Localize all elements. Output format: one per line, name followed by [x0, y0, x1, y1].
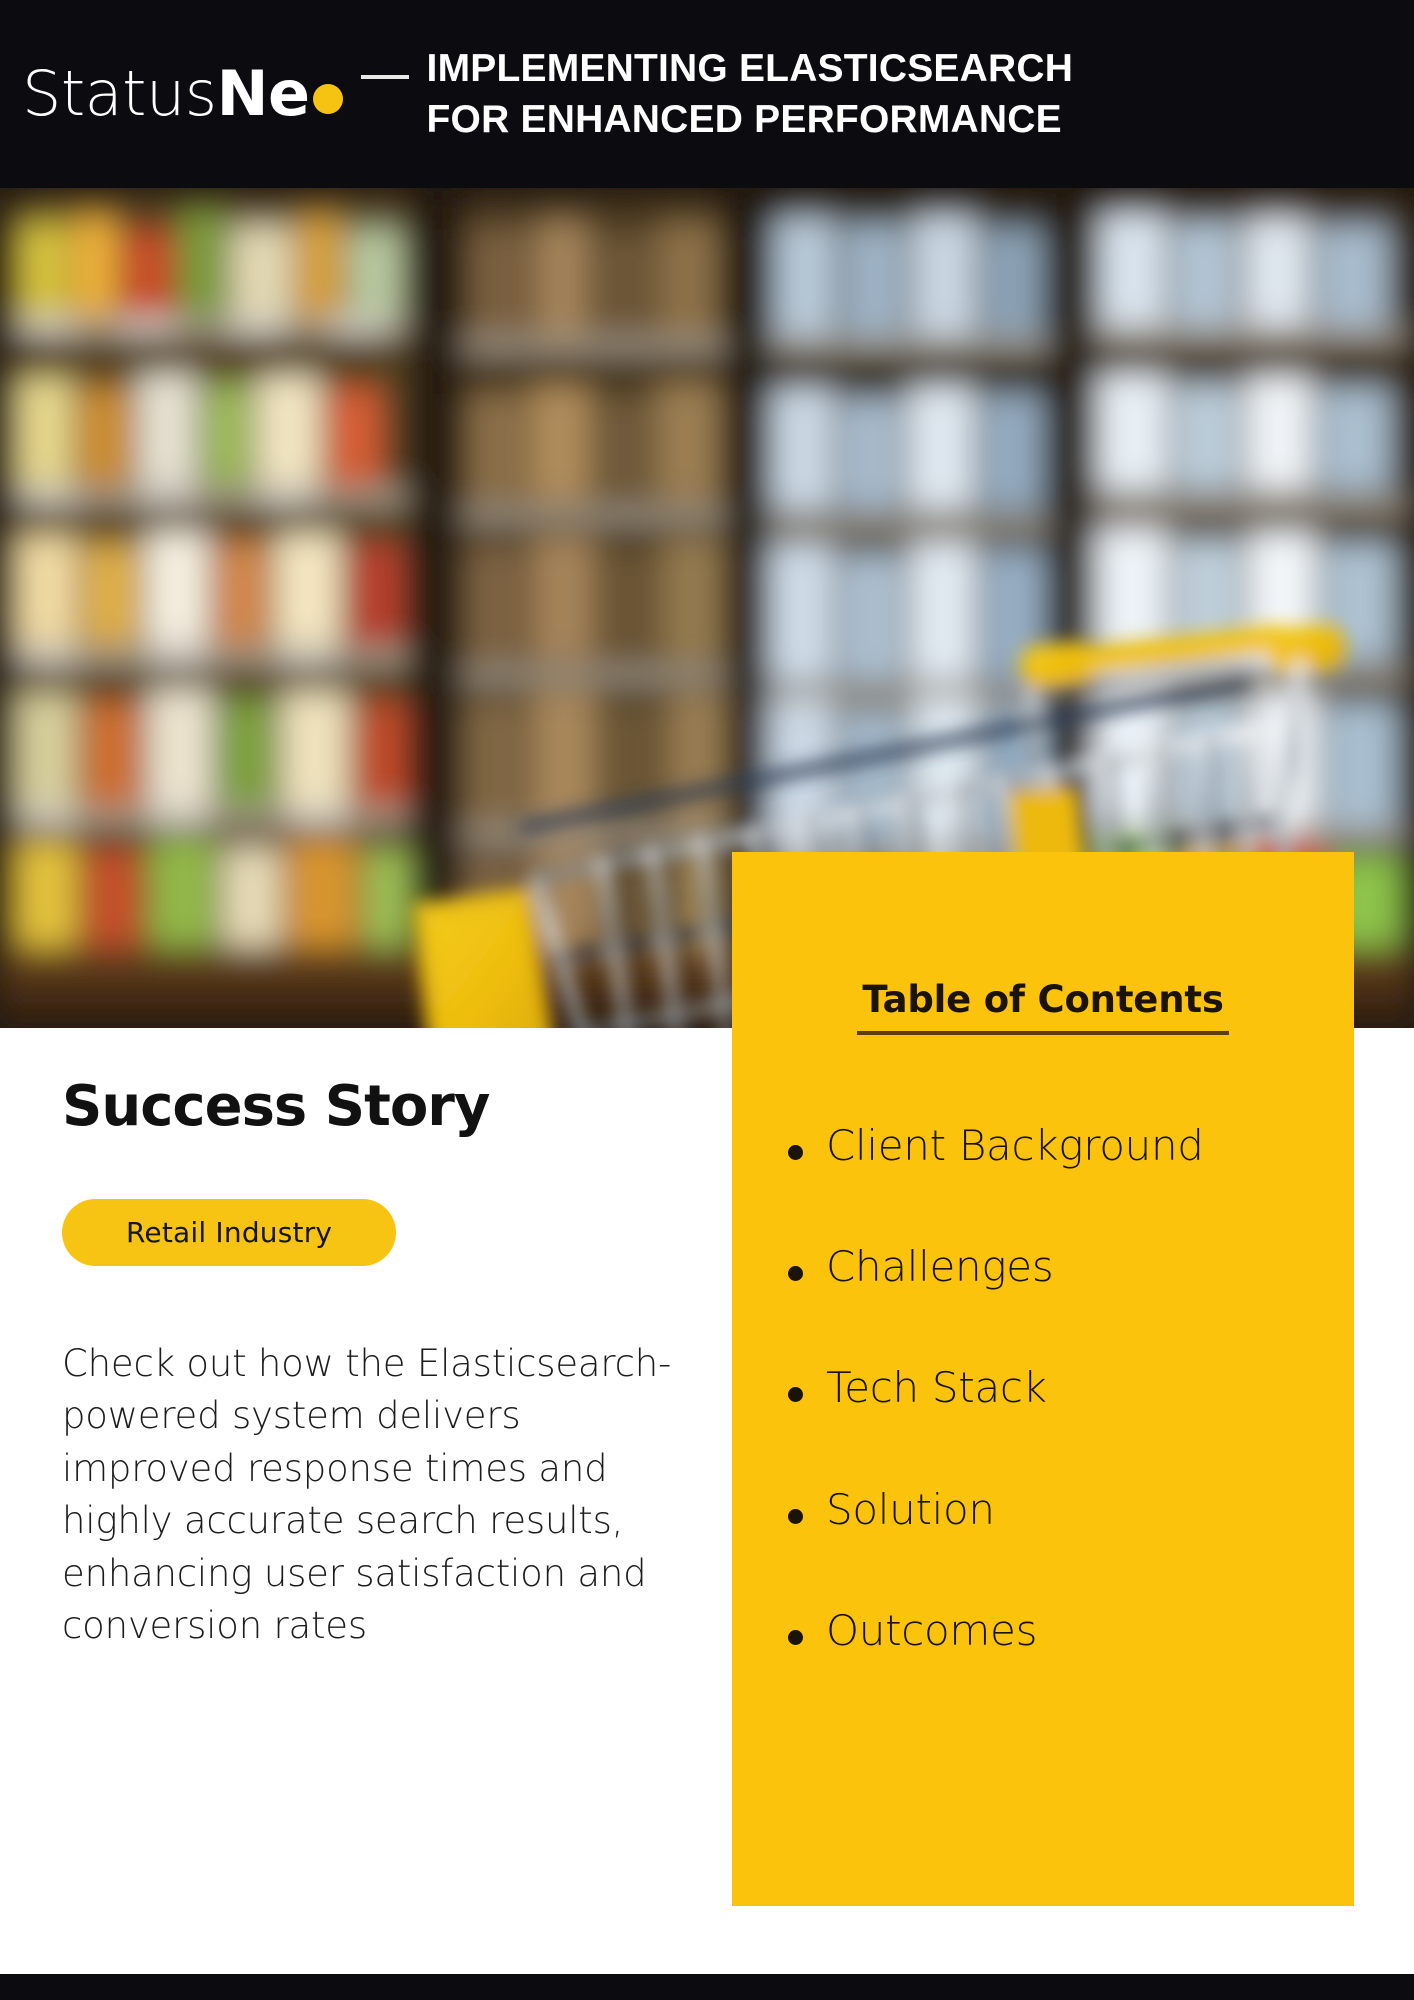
toc-heading-underline: [857, 1031, 1229, 1035]
toc-item-label: Client Background: [826, 1123, 1204, 1169]
footer-bar: [0, 1974, 1414, 2000]
toc-item-label: Challenges: [826, 1244, 1053, 1290]
toc-item-label: Outcomes: [826, 1608, 1037, 1654]
logo-dot-icon: [313, 84, 343, 114]
toc-item-solution[interactable]: Solution: [788, 1487, 1354, 1533]
left-content-column: Success Story Retail Industry Check out …: [62, 1078, 702, 1653]
toc-item-challenges[interactable]: Challenges: [788, 1244, 1354, 1290]
toc-list: Client Background Challenges Tech Stack …: [788, 1123, 1354, 1654]
toc-item-outcomes[interactable]: Outcomes: [788, 1608, 1354, 1654]
page-title: IMPLEMENTING ELASTICSEARCH FOR ENHANCED …: [427, 43, 1127, 146]
statusneo-logo: StatusNe: [22, 63, 343, 125]
industry-badge: Retail Industry: [62, 1199, 396, 1266]
toc-item-label: Tech Stack: [826, 1365, 1047, 1411]
toc-heading: Table of Contents: [732, 852, 1354, 1021]
summary-paragraph: Check out how the Elasticsearch-powered …: [62, 1338, 692, 1653]
bullet-icon: [788, 1266, 803, 1281]
table-of-contents-panel: Table of Contents Client Background Chal…: [732, 852, 1354, 1906]
bullet-icon: [788, 1145, 803, 1160]
toc-title-wrapper: Table of Contents: [732, 852, 1354, 1035]
toc-item-client-background[interactable]: Client Background: [788, 1123, 1354, 1169]
logo-text-status: Status: [22, 63, 217, 125]
bullet-icon: [788, 1509, 803, 1524]
success-story-heading: Success Story: [62, 1078, 702, 1137]
page-header: StatusNe IMPLEMENTING ELASTICSEARCH FOR …: [0, 0, 1414, 188]
header-divider-icon: [361, 75, 409, 79]
toc-item-label: Solution: [826, 1487, 995, 1533]
bullet-icon: [788, 1630, 803, 1645]
bullet-icon: [788, 1387, 803, 1402]
toc-item-tech-stack[interactable]: Tech Stack: [788, 1365, 1354, 1411]
logo-text-neo: Ne: [217, 63, 310, 125]
